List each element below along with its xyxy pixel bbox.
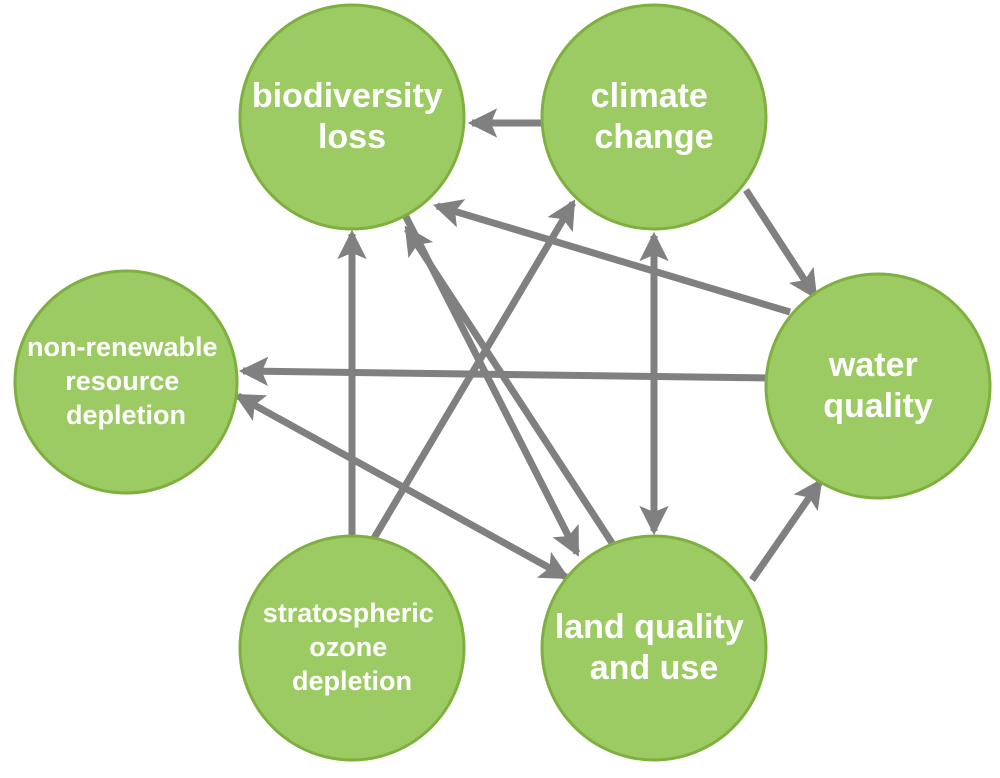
node-stratospheric-ozone-depletion-line-2: ozone xyxy=(309,632,387,662)
node-biodiversity-loss[interactable]: biodiversity loss xyxy=(240,5,464,229)
node-stratospheric-ozone-depletion-line-3: depletion xyxy=(292,666,412,696)
node-climate-change[interactable]: climate change xyxy=(542,5,766,229)
node-water-quality[interactable]: water quality xyxy=(766,274,990,498)
edge-land-quality-to-water-quality xyxy=(752,482,820,580)
node-biodiversity-loss-line-2: loss xyxy=(318,118,386,156)
node-non-renewable-resource-depletion[interactable]: non-renewable resource depletion xyxy=(15,271,237,493)
nodes-layer: biodiversity loss climate change non-ren… xyxy=(15,5,990,760)
node-land-quality-and-use-line-1: land quality xyxy=(555,608,744,646)
node-biodiversity-loss-line-1: biodiversity xyxy=(252,77,443,115)
environmental-pressures-diagram: biodiversity loss climate change non-ren… xyxy=(0,0,1000,778)
edge-climate-change-to-water-quality xyxy=(746,190,815,296)
node-climate-change-line-2: change xyxy=(594,118,713,156)
node-land-quality-and-use[interactable]: land quality and use xyxy=(542,536,766,760)
node-land-quality-and-use-line-2: and use xyxy=(590,649,718,687)
node-water-quality-line-2: quality xyxy=(823,387,933,425)
node-stratospheric-ozone-depletion-line-1: stratospheric xyxy=(263,598,434,628)
node-climate-change-line-1: climate xyxy=(591,77,708,115)
node-non-renewable-resource-depletion-line-1: non-renewable xyxy=(27,332,218,362)
node-non-renewable-resource-depletion-line-2: resource xyxy=(65,366,179,396)
diagram-canvas: biodiversity loss climate change non-ren… xyxy=(0,0,1000,778)
node-stratospheric-ozone-depletion[interactable]: stratospheric ozone depletion xyxy=(240,536,464,760)
node-non-renewable-resource-depletion-line-3: depletion xyxy=(66,400,186,430)
node-water-quality-line-1: water xyxy=(828,346,918,384)
